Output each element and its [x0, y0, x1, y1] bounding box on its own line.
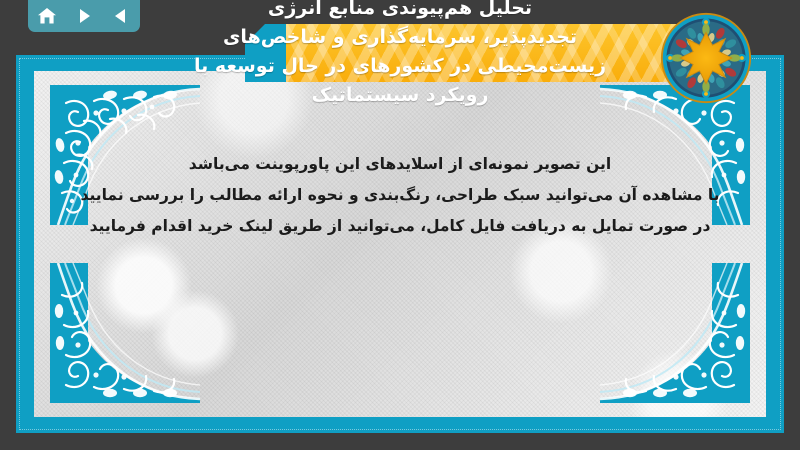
slide-frame: این تصویر نمونه‌ای از اسلایدهای این پاور…: [16, 55, 784, 433]
title-line: تحلیل هم‌پیوندی منابع انرژی: [70, 0, 730, 23]
navigation-button-group: [28, 0, 140, 32]
arabesque-corner-icon: [600, 263, 750, 403]
home-button[interactable]: [32, 2, 62, 30]
triangle-right-icon: [75, 7, 93, 25]
next-slide-button[interactable]: [69, 2, 99, 30]
previous-slide-button[interactable]: [106, 2, 136, 30]
slide-viewer: این تصویر نمونه‌ای از اسلایدهای این پاور…: [0, 0, 800, 450]
triangle-left-icon: [112, 7, 130, 25]
slide-body-text: این تصویر نمونه‌ای از اسلایدهای این پاور…: [74, 149, 726, 242]
body-line: این تصویر نمونه‌ای از اسلایدهای این پاور…: [74, 149, 726, 180]
home-icon: [37, 6, 57, 26]
persian-medallion-icon: [660, 12, 752, 104]
title-banner: [245, 24, 725, 82]
slide-canvas: این تصویر نمونه‌ای از اسلایدهای این پاور…: [34, 71, 766, 417]
arabesque-corner-icon: [50, 263, 200, 403]
body-line: با مشاهده آن می‌توانید سبک طراحی، رنگ‌بن…: [74, 180, 726, 211]
banner-corner-notch: [245, 24, 265, 44]
body-line: در صورت تمایل به دریافت فایل کامل، می‌تو…: [74, 211, 726, 242]
